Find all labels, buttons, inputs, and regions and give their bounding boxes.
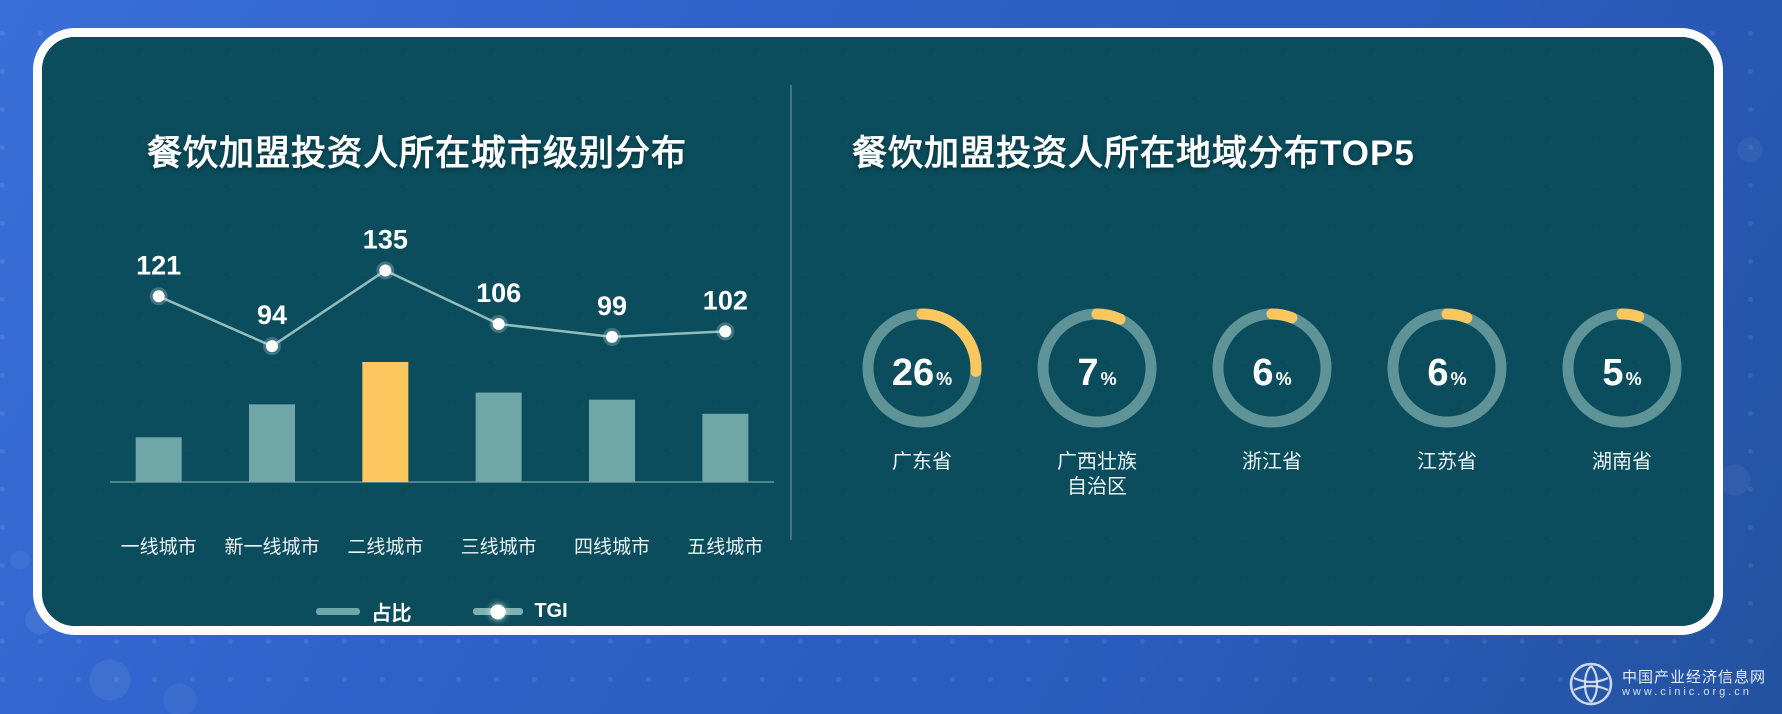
- donut-cell-3[interactable]: 6%江苏省: [1367, 302, 1527, 500]
- donut-percent-sign: %: [1101, 370, 1117, 388]
- value-label-3: 106: [476, 278, 521, 308]
- donut-chart-0: 26%: [856, 302, 988, 434]
- data-point-4: [606, 331, 618, 343]
- legend-bar-swatch-icon: [316, 608, 360, 615]
- watermark: 中国产业经济信息网 www.cinic.org.cn: [1569, 662, 1766, 706]
- donut-value-text: 7%: [1031, 302, 1163, 434]
- category-label-5: 五线城市: [669, 532, 782, 559]
- city-tier-combo-chart: 1219413510699102: [102, 212, 782, 532]
- donut-cell-2[interactable]: 6%浙江省: [1192, 302, 1352, 500]
- legend-item-TGI[interactable]: TGI: [473, 600, 567, 623]
- category-label-1: 新一线城市: [215, 532, 328, 559]
- bar-3: [476, 393, 522, 482]
- donut-value-text: 6%: [1381, 302, 1513, 434]
- category-label-3: 三线城市: [442, 532, 555, 559]
- category-axis-labels: 一线城市新一线城市二线城市三线城市四线城市五线城市: [102, 532, 782, 559]
- category-label-0: 一线城市: [102, 532, 215, 559]
- data-point-2: [379, 264, 391, 276]
- donut-percent-sign: %: [1276, 370, 1292, 388]
- donut-region-label-2: 浙江省: [1242, 450, 1302, 475]
- region-donut-group: 26%广东省7%广西壮族 自治区6%浙江省6%江苏省5%湖南省: [842, 302, 1702, 500]
- donut-percent-sign: %: [936, 370, 952, 388]
- bar-1: [249, 404, 295, 482]
- data-point-0: [153, 290, 165, 302]
- bar-0: [136, 437, 182, 482]
- category-label-2: 二线城市: [329, 532, 442, 559]
- right-panel-title: 餐饮加盟投资人所在地域分布TOP5: [852, 125, 1415, 176]
- donut-cell-0[interactable]: 26%广东省: [842, 302, 1002, 500]
- donut-chart-2: 6%: [1206, 302, 1338, 434]
- combo-chart-svg: 1219413510699102: [102, 212, 782, 532]
- donut-number: 6: [1252, 354, 1273, 392]
- donut-chart-4: 5%: [1556, 302, 1688, 434]
- donut-region-label-3: 江苏省: [1417, 450, 1477, 475]
- donut-number: 6: [1427, 354, 1448, 392]
- value-label-2: 135: [363, 224, 408, 254]
- donut-chart-3: 6%: [1381, 302, 1513, 434]
- value-label-0: 121: [136, 250, 181, 280]
- value-label-4: 99: [597, 291, 627, 321]
- value-label-5: 102: [703, 285, 748, 315]
- donut-percent-sign: %: [1626, 370, 1642, 388]
- donut-region-label-0: 广东省: [892, 450, 952, 475]
- data-point-3: [493, 318, 505, 330]
- bar-5: [702, 414, 748, 482]
- legend-label: TGI: [534, 600, 567, 623]
- watermark-text: 中国产业经济信息网 www.cinic.org.cn: [1622, 669, 1766, 699]
- infographic-card: 餐饮加盟投资人所在城市级别分布 1219413510699102 一线城市新一线…: [33, 28, 1723, 635]
- donut-value-text: 5%: [1556, 302, 1688, 434]
- donut-region-label-1: 广西壮族 自治区: [1057, 450, 1137, 500]
- bar-2: [362, 362, 408, 482]
- value-label-1: 94: [257, 300, 287, 330]
- donut-value-text: 26%: [856, 302, 988, 434]
- legend-line-swatch-icon: [473, 608, 523, 615]
- bar-4: [589, 400, 635, 482]
- donut-percent-sign: %: [1451, 370, 1467, 388]
- watermark-url: www.cinic.org.cn: [1622, 686, 1766, 699]
- chart-legend: 占比TGI: [102, 597, 782, 626]
- donut-chart-1: 7%: [1031, 302, 1163, 434]
- donut-number: 7: [1077, 354, 1098, 392]
- globe-logo-icon: [1569, 662, 1613, 706]
- data-point-1: [266, 340, 278, 352]
- left-panel-title: 餐饮加盟投资人所在城市级别分布: [147, 125, 687, 176]
- donut-number: 5: [1602, 354, 1623, 392]
- donut-region-label-4: 湖南省: [1592, 450, 1652, 475]
- legend-label: 占比: [371, 597, 411, 626]
- donut-cell-1[interactable]: 7%广西壮族 自治区: [1017, 302, 1177, 500]
- data-point-5: [719, 325, 731, 337]
- panel-divider: [790, 85, 792, 540]
- donut-cell-4[interactable]: 5%湖南省: [1542, 302, 1702, 500]
- donut-number: 26: [892, 354, 934, 392]
- donut-value-text: 6%: [1206, 302, 1338, 434]
- legend-item-占比[interactable]: 占比: [316, 597, 411, 626]
- watermark-site-name: 中国产业经济信息网: [1622, 669, 1766, 686]
- category-label-4: 四线城市: [555, 532, 668, 559]
